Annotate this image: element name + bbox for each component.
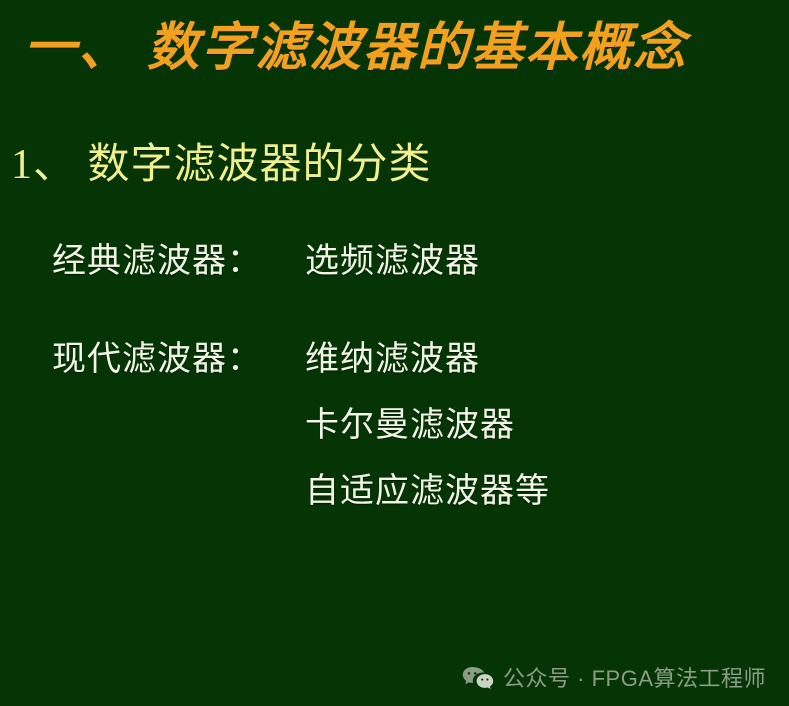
row-value-classic-filter: 选频滤波器 [305,238,480,286]
presentation-slide: 一、 数字滤波器的基本概念 1、 数字滤波器的分类 经典滤波器： 选频滤波器 现… [0,0,789,706]
row-label-classic-filter: 经典滤波器： [52,238,262,286]
slide-title: 一、 数字滤波器的基本概念 [24,18,687,80]
content-row-kalman-filter: 卡尔曼滤波器 [0,402,789,450]
row-label-modern-filter: 现代滤波器： [52,336,262,384]
wechat-icon [462,665,494,693]
slide-subheading: 1、 数字滤波器的分类 [11,138,432,192]
row-value-kalman-filter: 卡尔曼滤波器 [305,402,515,450]
row-value-adaptive-filter: 自适应滤波器等 [305,468,550,516]
content-row-adaptive-filter: 自适应滤波器等 [0,468,789,516]
watermark: 公众号 · FPGA算法工程师 [462,664,766,694]
content-row-classic-filter: 经典滤波器： 选频滤波器 [0,238,789,286]
watermark-text: 公众号 · FPGA算法工程师 [503,664,766,694]
row-value-wiener-filter: 维纳滤波器 [305,336,480,384]
content-row-modern-filter: 现代滤波器： 维纳滤波器 [0,336,789,384]
